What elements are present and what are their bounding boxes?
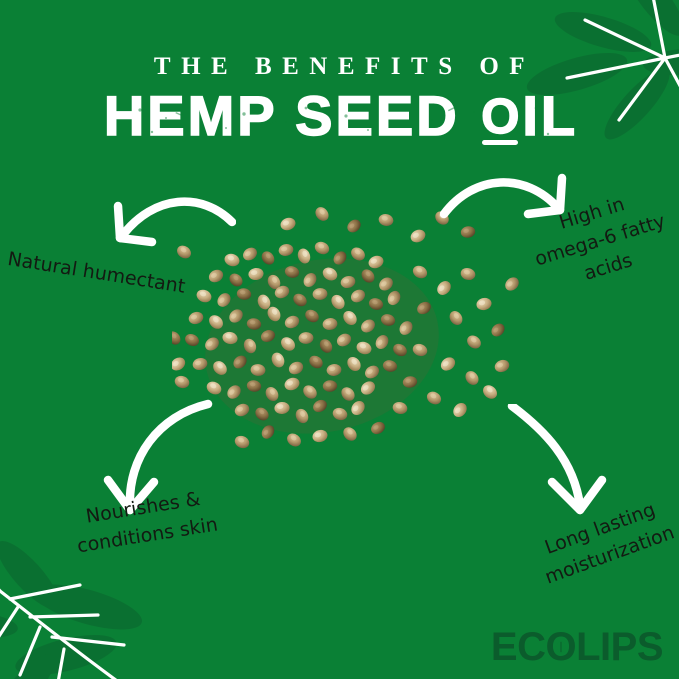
headline-part-2: IL	[522, 84, 578, 147]
infographic-poster: THE BENEFITS OF HEMP SEED OIL	[0, 0, 679, 679]
brand-letter-o: O	[545, 627, 576, 667]
brand-name-part-1: EC	[491, 625, 546, 669]
brand-logo: ECO LIPS	[491, 627, 663, 667]
headline-letter-o: O	[478, 93, 522, 142]
kicker-text: THE BENEFITS OF	[0, 54, 679, 79]
benefit-label-long-lasting-moisturization: Long lasting moisturization	[506, 483, 679, 601]
benefit-label-high-in-omega-6: High in omega-6 fatty acids	[516, 178, 679, 302]
hemp-seed-pile	[172, 196, 522, 486]
title-block: THE BENEFITS OF HEMP SEED OIL	[0, 54, 679, 144]
brand-name-part-2: LIPS	[576, 625, 663, 669]
page-title: HEMP SEED OIL	[0, 88, 679, 144]
leaf-icon	[551, 638, 570, 657]
headline-part-1: HEMP SEED	[104, 84, 478, 147]
brand-name: ECO LIPS	[491, 627, 663, 667]
benefit-label-nourishes-conditions-skin: Nourishes & conditions skin	[52, 480, 239, 564]
